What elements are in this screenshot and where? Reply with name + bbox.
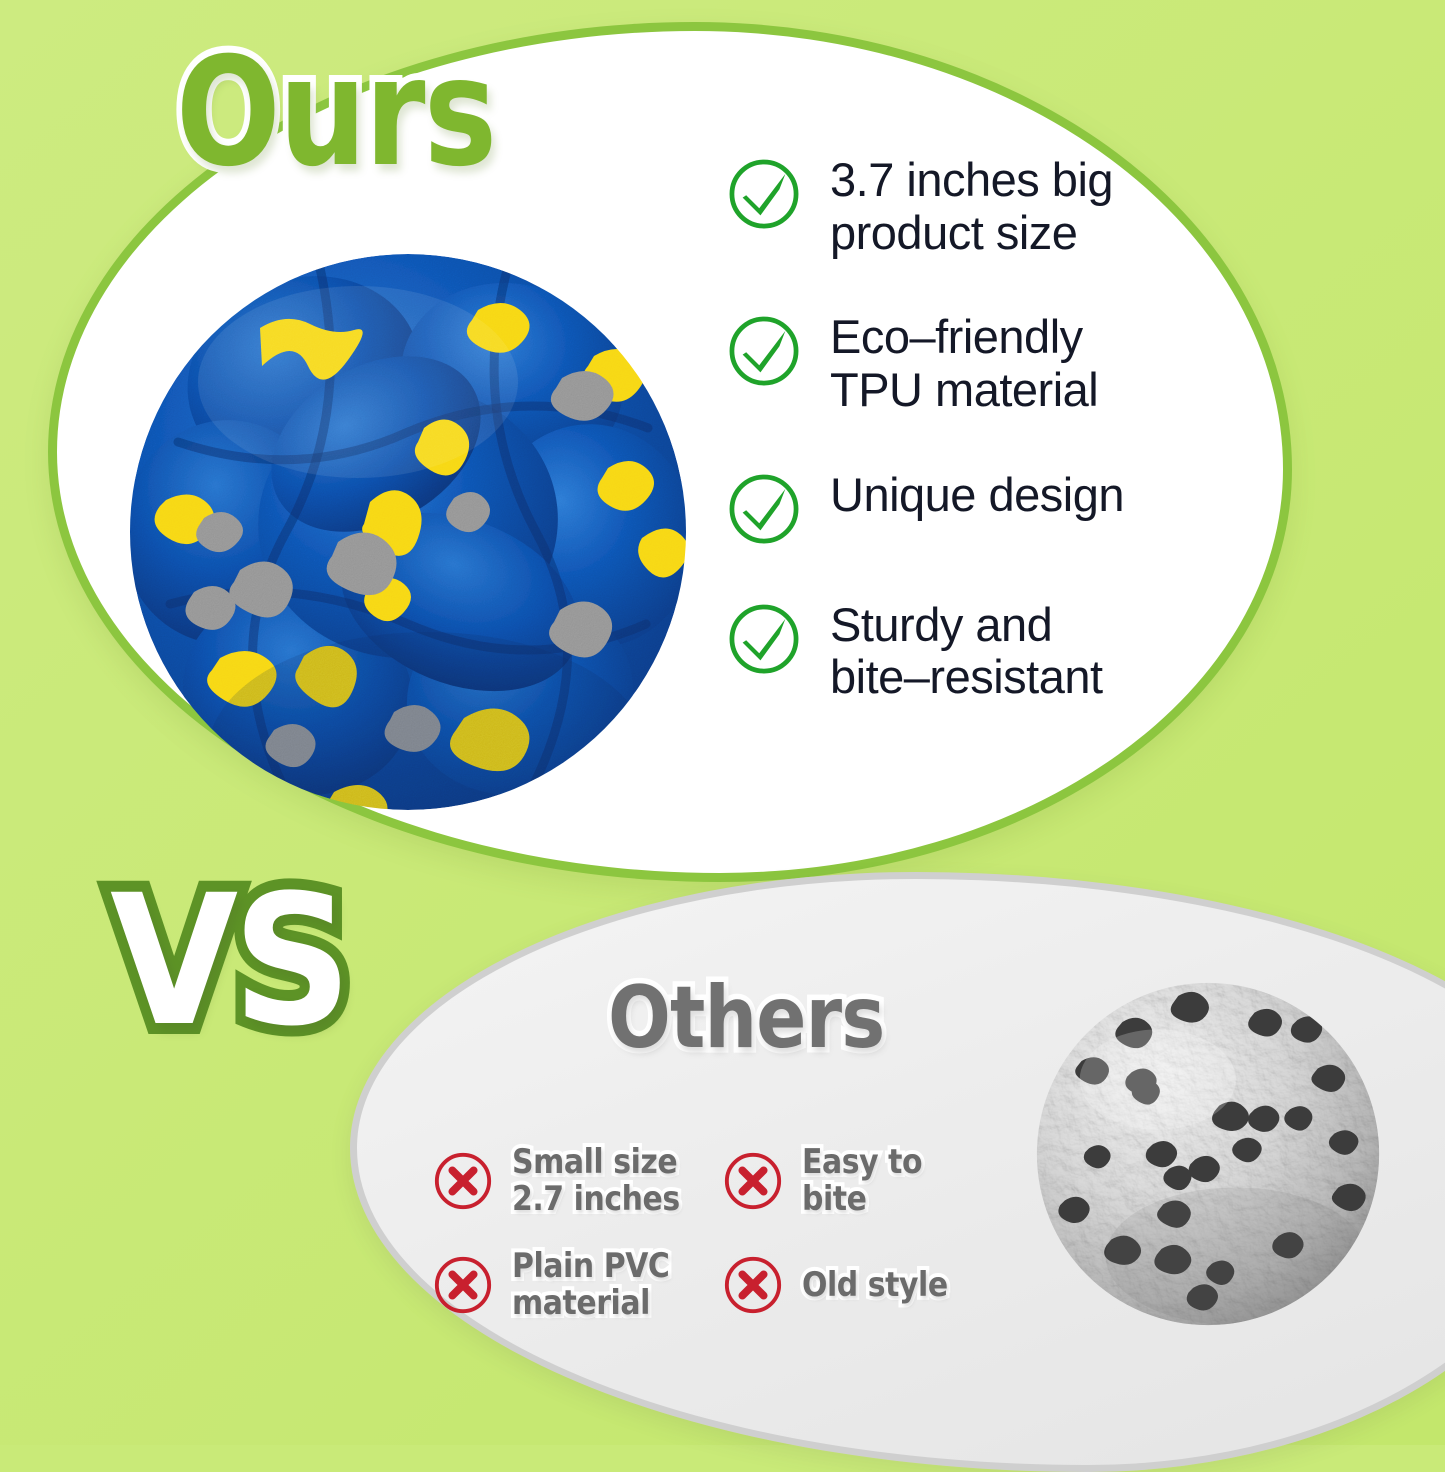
vs-divider-badge: VS [110,872,346,1052]
ours-product-image [108,232,708,832]
others-con-label: Small size 2.7 inches [512,1144,680,1217]
ours-feature-list: 3.7 inches big product size Eco–friendly… [726,152,1196,704]
ours-feature-label: 3.7 inches big product size [830,152,1113,259]
others-product-image [1022,968,1394,1340]
others-con-label: Old style [802,1267,948,1304]
others-con-item: Old style [722,1240,1012,1330]
x-circle-icon [722,1254,784,1316]
check-circle-icon [726,156,802,232]
check-circle-icon [726,471,802,547]
ours-feature-label: Eco–friendly TPU material [830,309,1098,416]
ours-feature-item: Sturdy and bite–resistant [726,597,1196,704]
x-circle-icon [432,1150,494,1212]
ours-feature-label: Unique design [830,467,1124,522]
check-circle-icon [726,601,802,677]
x-circle-icon [432,1254,494,1316]
ours-feature-label: Sturdy and bite–resistant [830,597,1103,704]
ours-feature-item: Unique design [726,467,1196,547]
check-circle-icon [726,313,802,389]
others-cons-list: Small size 2.7 inches Easy to bite Plain… [432,1136,1012,1330]
others-con-label: Plain PVC material [512,1248,669,1321]
ours-feature-item: Eco–friendly TPU material [726,309,1196,416]
ours-title: Ours [176,38,495,188]
others-con-item: Easy to bite [722,1136,1012,1226]
others-con-item: Plain PVC material [432,1240,722,1330]
comparison-infographic: Ours 3.7 inches big product size Eco–fri… [0,0,1445,1445]
x-circle-icon [722,1150,784,1212]
others-title: Others [608,975,884,1061]
ours-feature-item: 3.7 inches big product size [726,152,1196,259]
others-con-item: Small size 2.7 inches [432,1136,722,1226]
others-con-label: Easy to bite [802,1144,987,1217]
